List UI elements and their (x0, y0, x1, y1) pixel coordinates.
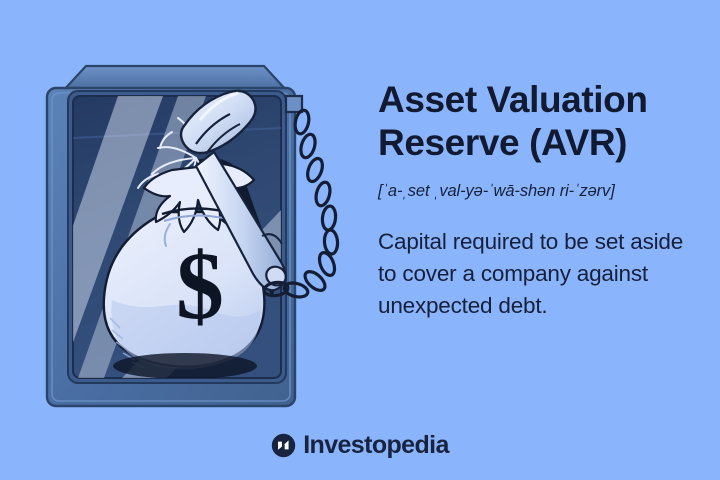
dollar-symbol: $ (176, 232, 224, 339)
term-pronunciation: [ˈa-ˌset ˌval-yə-ˈwā-shən ri-ˈzərv] (378, 181, 696, 202)
investopedia-logo: Investopedia (0, 433, 720, 458)
investopedia-wordmark: Investopedia (303, 433, 449, 458)
definition-card: $ (0, 0, 720, 480)
investopedia-logo-icon (271, 433, 296, 458)
safe-illustration: $ (0, 0, 370, 430)
term-definition: Capital required to be set aside to cove… (378, 226, 696, 322)
definition-text-column: Asset Valuation Reserve (AVR) [ˈa-ˌset ˌ… (378, 78, 696, 322)
term-title: Asset Valuation Reserve (AVR) (378, 78, 696, 165)
